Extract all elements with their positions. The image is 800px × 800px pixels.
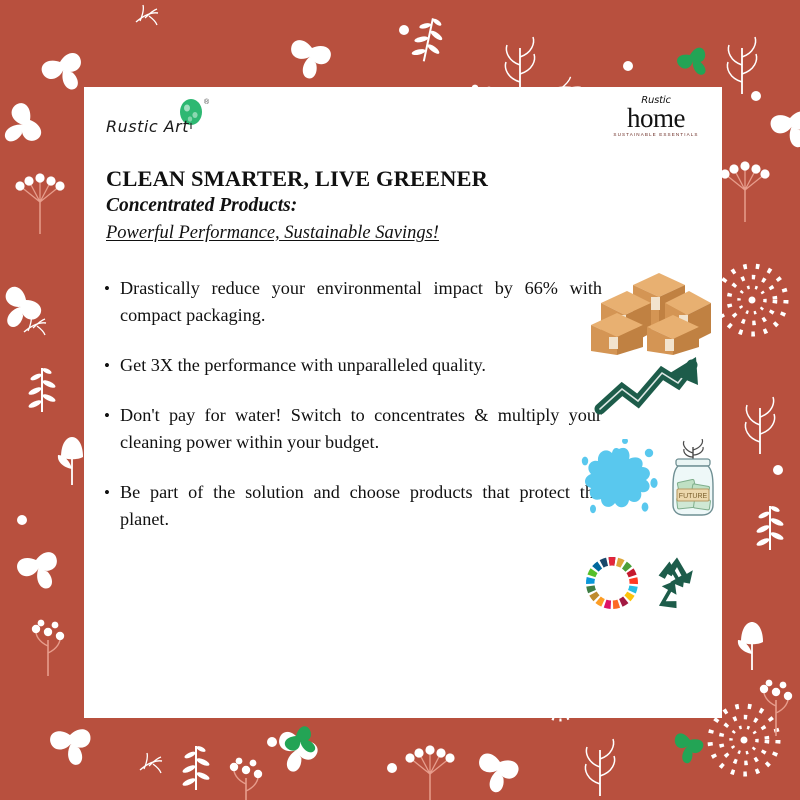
sdg-wheel-icon — [584, 555, 640, 616]
recycling-symbol-icon — [646, 555, 708, 616]
rustic-home-tagline: SUSTAINABLE ESSENTIALS — [608, 132, 704, 137]
bullet-text: Get 3X the performance with unparalleled… — [120, 352, 602, 379]
heading-block: CLEAN SMARTER, LIVE GREENER Concentrated… — [106, 165, 576, 246]
list-item: • Don't pay for water! Switch to concent… — [102, 402, 602, 456]
benefit-list: • Drastically reduce your environmental … — [102, 275, 602, 556]
registered-mark: ® — [204, 99, 209, 106]
bullet-text: Be part of the solution and choose produ… — [120, 479, 602, 533]
bullet-marker: • — [102, 275, 120, 302]
list-item: • Drastically reduce your environmental … — [102, 275, 602, 329]
content-card: Rustic Art ® Rustic home SUSTAINABLE ESS… — [84, 87, 722, 718]
page-subtitle: Concentrated Products: — [106, 193, 576, 218]
rustic-art-logo: Rustic Art ® — [106, 97, 216, 145]
water-splash-icon — [579, 439, 661, 522]
page-tagline: Powerful Performance, Sustainable Saving… — [106, 221, 576, 246]
growth-arrow-icon — [592, 355, 702, 422]
savings-jar-icon: FUTURE — [664, 439, 722, 524]
bullet-text: Don't pay for water! Switch to concentra… — [120, 402, 602, 456]
bullet-marker: • — [102, 402, 120, 429]
rustic-art-wordmark: Rustic Art — [106, 117, 189, 136]
page-title: CLEAN SMARTER, LIVE GREENER — [106, 165, 576, 192]
bullet-marker: • — [102, 479, 120, 506]
list-item: • Get 3X the performance with unparallel… — [102, 352, 602, 379]
bullet-marker: • — [102, 352, 120, 379]
cardboard-boxes-icon — [589, 263, 711, 360]
jar-label: FUTURE — [679, 493, 708, 500]
list-item: • Be part of the solution and choose pro… — [102, 479, 602, 533]
poster-root: Rustic Art ® Rustic home SUSTAINABLE ESS… — [0, 0, 800, 800]
rustic-home-main-word: home — [608, 106, 704, 131]
rustic-home-logo: Rustic home SUSTAINABLE ESSENTIALS — [608, 95, 704, 147]
bullet-text: Drastically reduce your environmental im… — [120, 275, 602, 329]
